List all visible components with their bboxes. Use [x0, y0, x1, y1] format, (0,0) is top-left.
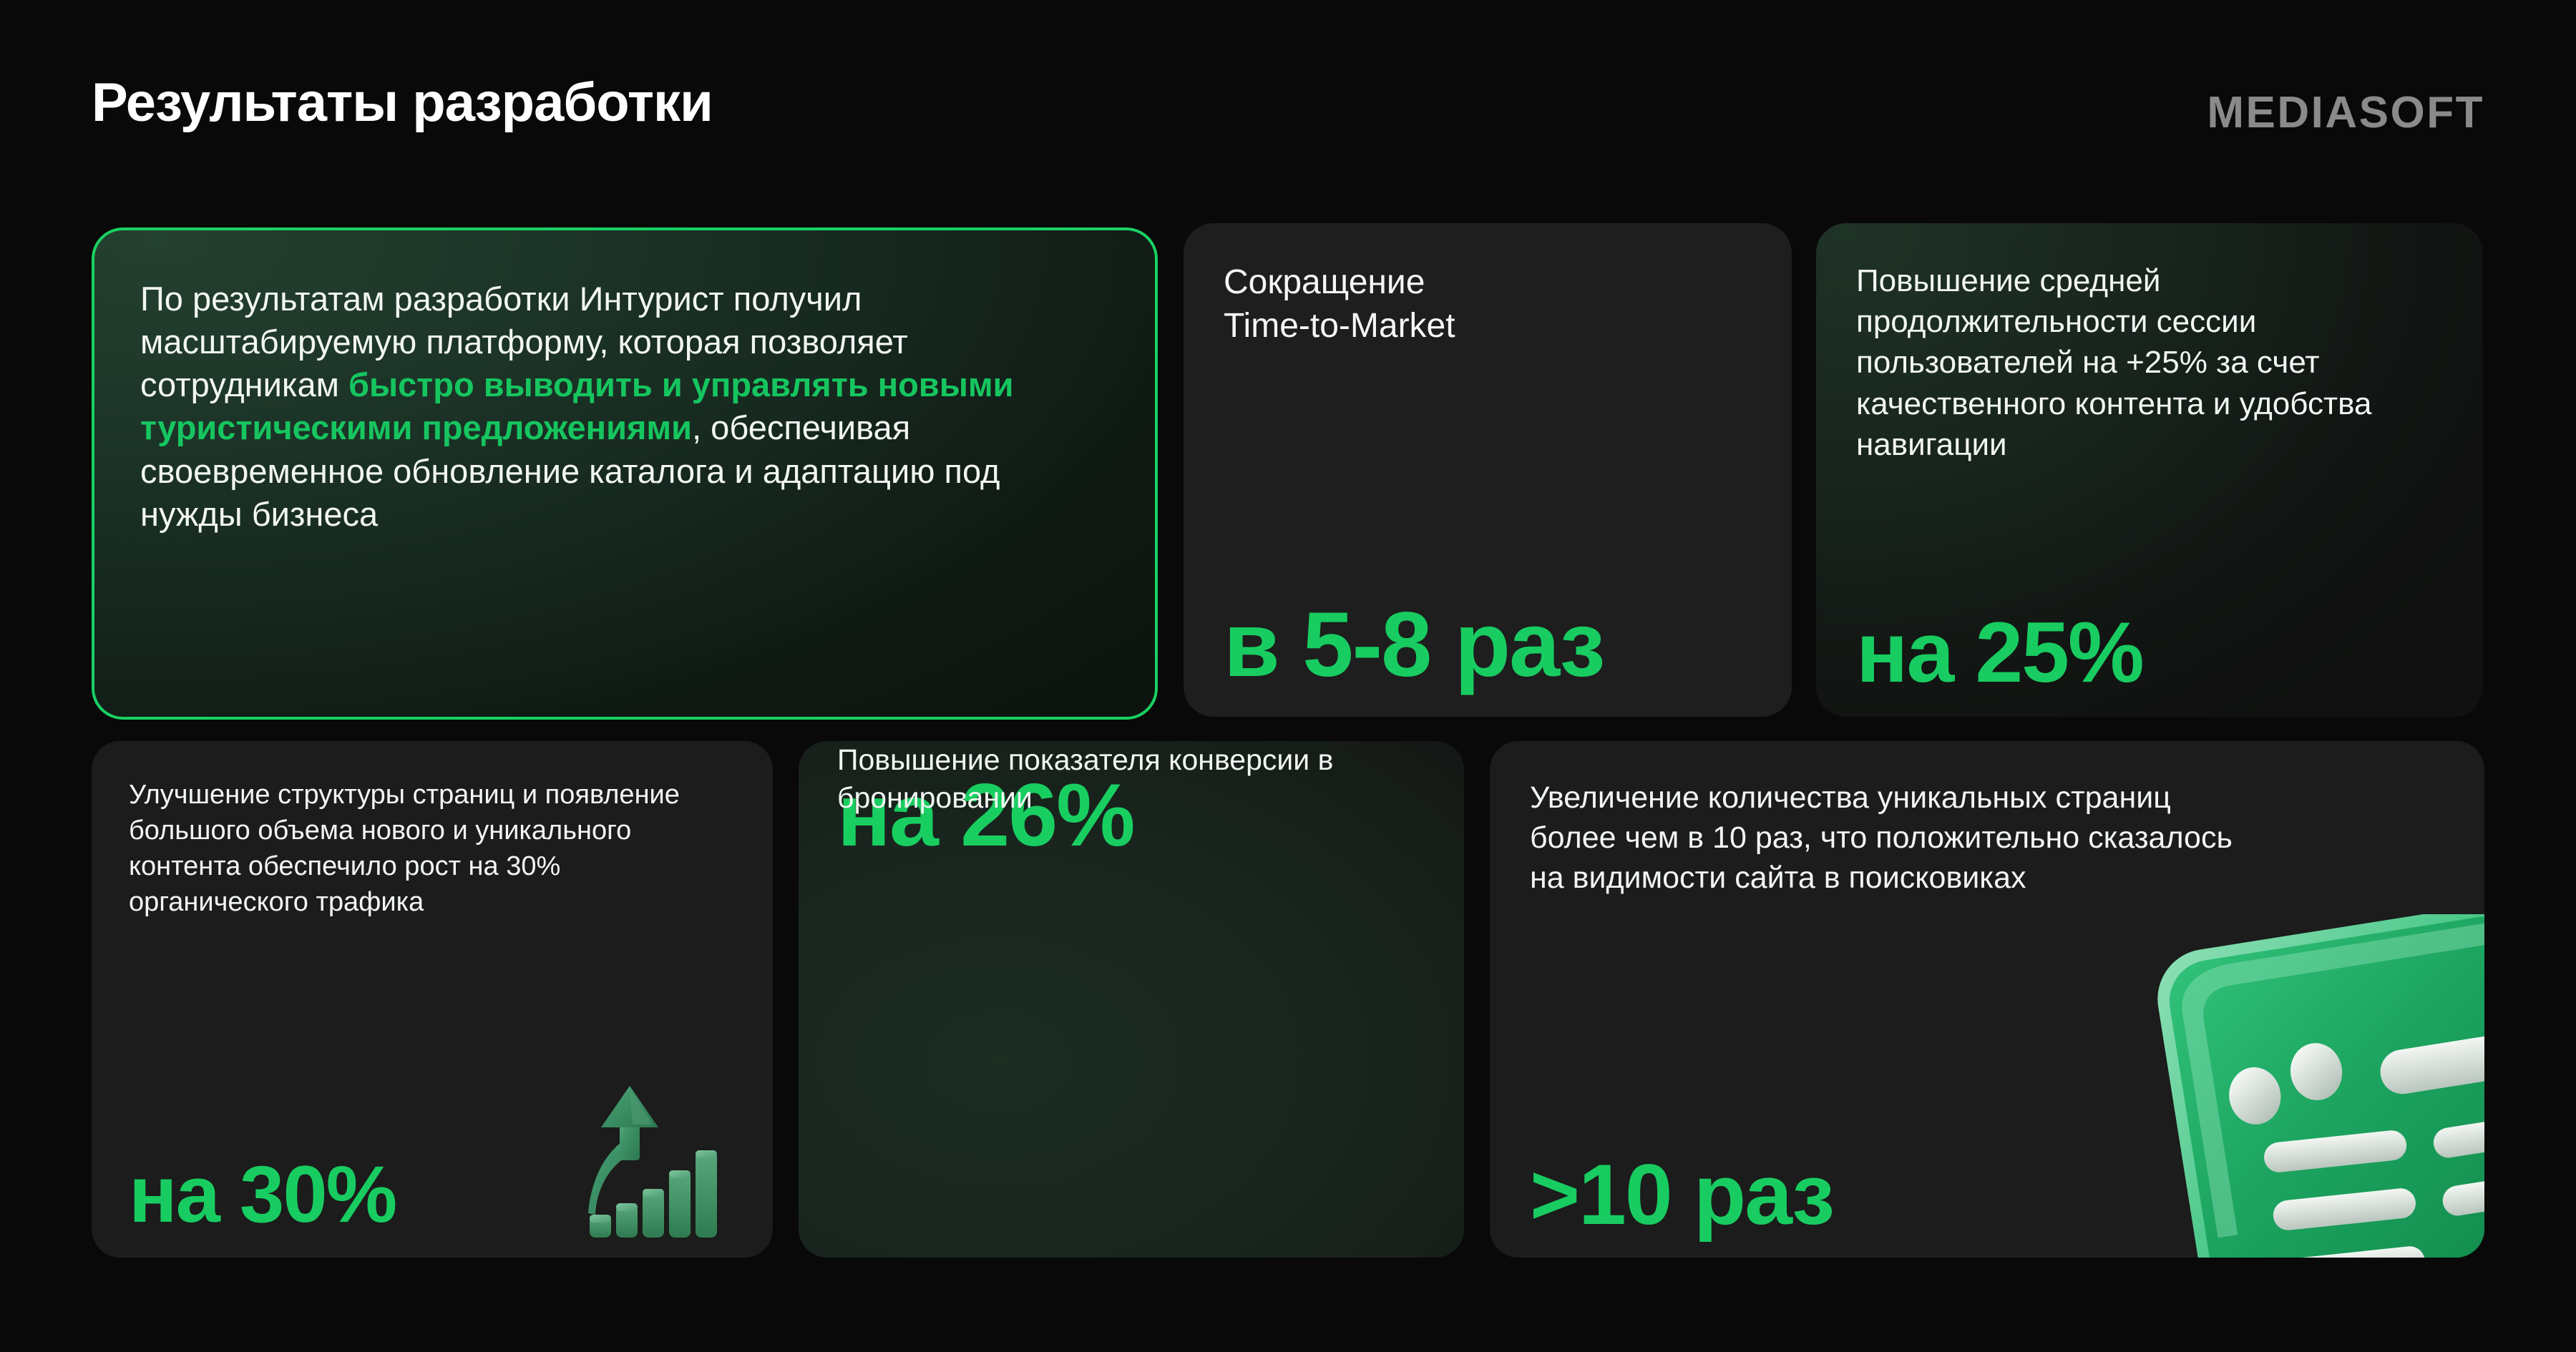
card-pages-label: Увеличение количества уникальных страниц… [1530, 778, 2245, 898]
card-traffic-label: Улучшение структуры страниц и появление … [129, 777, 736, 921]
page-title: Результаты разработки [92, 72, 713, 134]
card-highlight-summary: По результатам разработки Интурист получ… [92, 227, 1158, 720]
brand-logo: MEDIASOFT [2207, 87, 2484, 138]
card-conversion-content: Повышение показателя конверсии в брониро… [837, 741, 1464, 1226]
card-session-value: на 25% [1856, 609, 2143, 695]
card-ttm-value: в 5-8 раз [1224, 599, 1604, 691]
card-session-label: Повышение средней продолжительности сесс… [1856, 260, 2443, 465]
card-time-to-market: СокращениеTime-to-Market в 5-8 раз [1184, 223, 1792, 717]
card-conversion-label: Повышение показателя конверсии в брониро… [837, 741, 1464, 818]
slide-root: Результаты разработки MEDIASOFT По резул… [0, 0, 2576, 1352]
card-ttm-label-line2: Time-to-Market [1224, 307, 1455, 345]
card-ttm-label: СокращениеTime-to-Market [1224, 260, 1752, 348]
growth-arrow-chart-icon [587, 1074, 723, 1239]
card-organic-traffic: Улучшение структуры страниц и появление … [92, 741, 773, 1258]
card-unique-pages: Увеличение количества уникальных страниц… [1490, 741, 2484, 1258]
card-highlight-content: По результатам разработки Интурист получ… [94, 230, 1155, 717]
card-ttm-label-line1: Сокращение [1224, 263, 1425, 301]
card-highlight-text: По результатам разработки Интурист получ… [140, 278, 1109, 536]
card-pages-value: >10 раз [1530, 1152, 1833, 1238]
card-session-duration: Повышение средней продолжительности сесс… [1816, 223, 2483, 717]
card-traffic-value: на 30% [129, 1155, 396, 1235]
card-booking-conversion: на 26% Повышение показателя конверсии в … [799, 741, 1464, 1258]
